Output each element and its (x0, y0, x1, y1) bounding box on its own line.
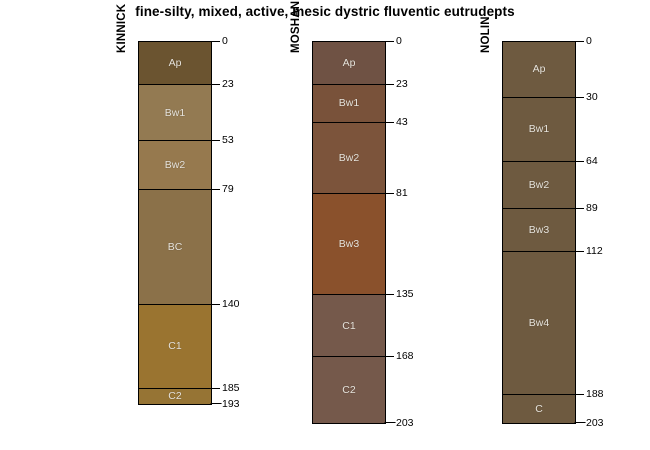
horizon-bw4[interactable]: Bw4 (503, 252, 575, 395)
depth-tick (575, 251, 584, 252)
depth-tick (575, 161, 584, 162)
depth-tick (575, 97, 584, 98)
depth-label: 168 (396, 351, 414, 362)
profile-name-label: MOSHANNON (290, 0, 302, 53)
horizon-label: Bw2 (165, 160, 185, 171)
profile-box: ApBw1Bw2Bw3C1C2 (312, 41, 386, 424)
depth-label: 112 (586, 246, 603, 257)
depth-tick (385, 356, 394, 357)
depth-tick (211, 84, 220, 85)
depth-label: 23 (396, 79, 408, 90)
horizon-label: Ap (169, 58, 182, 69)
depth-label: 193 (222, 399, 240, 410)
horizon-ap[interactable]: Ap (139, 42, 211, 85)
depth-label: 23 (222, 79, 234, 90)
horizon-label: Bw2 (529, 180, 549, 191)
depth-tick (575, 208, 584, 209)
depth-label: 89 (586, 203, 598, 214)
horizon-c2[interactable]: C2 (139, 389, 211, 404)
depth-tick (575, 394, 584, 395)
horizon-bw1[interactable]: Bw1 (503, 98, 575, 162)
horizon-c1[interactable]: C1 (139, 305, 211, 389)
depth-label: 53 (222, 135, 234, 146)
profile-name-label: KINNICK (116, 4, 128, 53)
depth-tick (211, 140, 220, 141)
depth-label: 79 (222, 184, 234, 195)
horizon-label: Bw1 (529, 124, 549, 135)
soil-profile-chart: fine-silty, mixed, active, mesic dystric… (0, 0, 650, 450)
depth-tick (575, 41, 584, 42)
horizon-bw1[interactable]: Bw1 (313, 85, 385, 123)
horizon-label: Bw4 (529, 318, 549, 329)
horizon-label: C1 (168, 341, 181, 352)
depth-tick (211, 304, 220, 305)
chart-title: fine-silty, mixed, active, mesic dystric… (0, 4, 650, 19)
depth-label: 81 (396, 188, 408, 199)
depth-tick (385, 41, 394, 42)
depth-label: 0 (396, 36, 402, 47)
horizon-label: BC (168, 242, 183, 253)
profile-box: ApBw1Bw2Bw3Bw4C (502, 41, 576, 424)
horizon-label: Ap (343, 58, 356, 69)
depth-tick (385, 294, 394, 295)
depth-tick (385, 84, 394, 85)
horizon-ap[interactable]: Ap (503, 42, 575, 98)
horizon-label: Bw2 (339, 153, 359, 164)
horizon-c1[interactable]: C1 (313, 295, 385, 357)
horizon-bw1[interactable]: Bw1 (139, 85, 211, 141)
horizon-c[interactable]: C (503, 395, 575, 423)
depth-label: 64 (586, 156, 598, 167)
horizon-bw2[interactable]: Bw2 (313, 123, 385, 194)
horizon-bw2[interactable]: Bw2 (139, 141, 211, 190)
horizon-bw3[interactable]: Bw3 (503, 209, 575, 252)
profile-name-label: NOLIN (480, 16, 492, 53)
depth-label: 203 (586, 418, 604, 429)
horizon-label: Bw1 (339, 98, 359, 109)
horizon-label: C1 (342, 321, 355, 332)
horizon-label: Bw3 (529, 225, 549, 236)
depth-label: 135 (396, 289, 414, 300)
profile-box: ApBw1Bw2BCC1C2 (138, 41, 212, 405)
horizon-label: C (535, 404, 543, 415)
horizon-bw2[interactable]: Bw2 (503, 162, 575, 209)
horizon-bc[interactable]: BC (139, 190, 211, 304)
depth-label: 0 (222, 36, 228, 47)
horizon-label: C2 (168, 391, 181, 402)
depth-tick (211, 388, 220, 389)
depth-label: 188 (586, 389, 604, 400)
depth-label: 185 (222, 383, 240, 394)
depth-label: 203 (396, 418, 414, 429)
horizon-label: C2 (342, 385, 355, 396)
horizon-ap[interactable]: Ap (313, 42, 385, 85)
horizon-label: Bw1 (165, 108, 185, 119)
depth-tick (385, 193, 394, 194)
horizon-c2[interactable]: C2 (313, 357, 385, 423)
depth-tick (385, 122, 394, 123)
depth-label: 43 (396, 117, 408, 128)
depth-tick (211, 41, 220, 42)
depth-label: 0 (586, 36, 592, 47)
depth-tick (211, 189, 220, 190)
horizon-label: Ap (533, 64, 546, 75)
horizon-label: Bw3 (339, 239, 359, 250)
depth-label: 140 (222, 299, 240, 310)
depth-label: 30 (586, 92, 598, 103)
horizon-bw3[interactable]: Bw3 (313, 194, 385, 295)
